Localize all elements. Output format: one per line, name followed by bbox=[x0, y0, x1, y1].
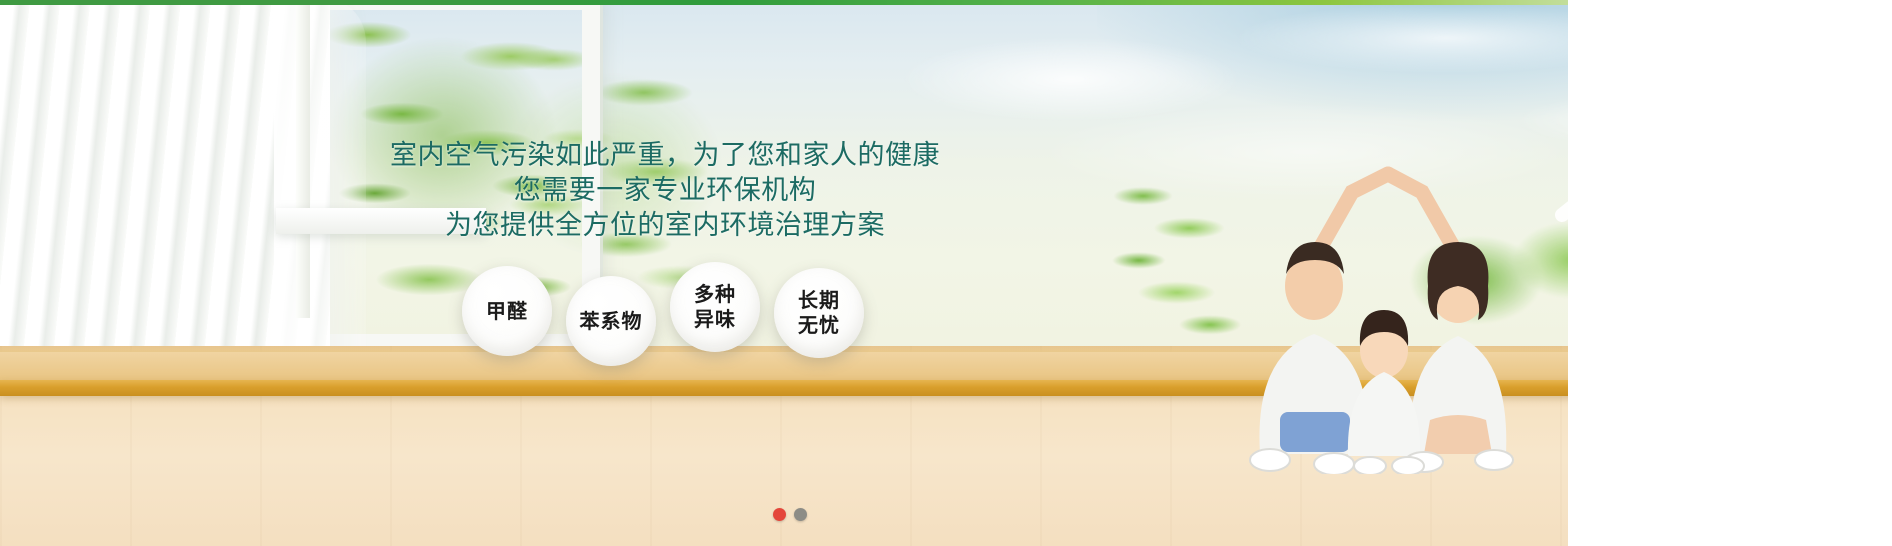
badge-long-term-line-1: 长期 bbox=[798, 288, 840, 313]
badge-benzene-line-1: 苯系物 bbox=[580, 309, 643, 334]
banner-headline: 室内空气污染如此严重，为了您和家人的健康 您需要一家专业环保机构 为您提供全方位… bbox=[0, 138, 1330, 243]
badge-long-term-line-2: 无忧 bbox=[798, 313, 840, 338]
badge-long-term[interactable]: 长期 无忧 bbox=[774, 268, 864, 358]
badge-formaldehyde-line-1: 甲醛 bbox=[486, 299, 528, 324]
badge-formaldehyde[interactable]: 甲醛 bbox=[462, 266, 552, 356]
carousel-dot-2[interactable] bbox=[794, 508, 807, 521]
headline-line-1: 室内空气污染如此严重，为了您和家人的健康 bbox=[0, 138, 1330, 173]
headline-line-2: 您需要一家专业环保机构 bbox=[0, 173, 1330, 208]
feature-badge-group: 甲醛 苯系物 多种 异味 长期 无忧 bbox=[462, 266, 864, 366]
page-right-gutter bbox=[1568, 0, 1892, 546]
badge-odors-line-1: 多种 bbox=[694, 282, 736, 307]
badge-odors[interactable]: 多种 异味 bbox=[670, 262, 760, 352]
headline-line-3: 为您提供全方位的室内环境治理方案 bbox=[0, 208, 1330, 243]
carousel-dot-1[interactable] bbox=[773, 508, 786, 521]
badge-benzene[interactable]: 苯系物 bbox=[566, 276, 656, 366]
carousel-pagination bbox=[0, 508, 1580, 521]
badge-odors-line-2: 异味 bbox=[694, 307, 736, 332]
hero-banner: 室内空气污染如此严重，为了您和家人的健康 您需要一家专业环保机构 为您提供全方位… bbox=[0, 0, 1892, 546]
